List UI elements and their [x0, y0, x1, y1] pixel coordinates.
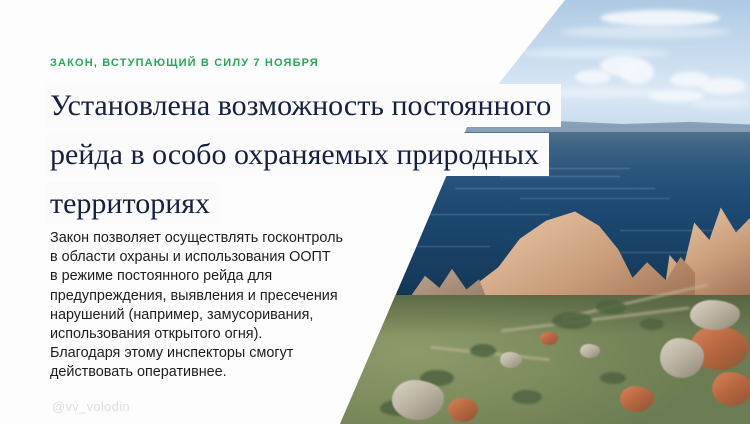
headline-line: территориях — [46, 182, 220, 225]
body-line: предупреждения, выявления и пресечения — [50, 287, 400, 306]
slide-content: ЗАКОН, ВСТУПАЮЩИЙ В СИЛУ 7 НОЯБРЯ Устано… — [0, 0, 750, 424]
body-paragraph: Закон позволяет осуществлять госконтроль… — [50, 229, 400, 383]
slide-root: ЗАКОН, ВСТУПАЮЩИЙ В СИЛУ 7 НОЯБРЯ Устано… — [0, 0, 750, 424]
body-line: действовать оперативнее. — [50, 363, 400, 382]
page-title: Установлена возможность постоянного рейд… — [46, 84, 706, 231]
headline-line: Установлена возможность постоянного — [46, 84, 561, 127]
watermark-handle: @vv_volodin — [52, 399, 130, 414]
body-line: нарушений (например, замусоривания, — [50, 306, 400, 325]
body-line: Закон позволяет осуществлять госконтроль — [50, 229, 400, 248]
eyebrow-label: ЗАКОН, ВСТУПАЮЩИЙ В СИЛУ 7 НОЯБРЯ — [50, 57, 319, 69]
body-line: использования открытого огня). — [50, 325, 400, 344]
body-line: Благодаря этому инспекторы смогут — [50, 344, 400, 363]
body-line: в области охраны и использования ООПТ — [50, 248, 400, 267]
headline-line: рейда в особо охраняемых природных — [46, 133, 549, 176]
body-line: в режиме постоянного рейда для — [50, 267, 400, 286]
